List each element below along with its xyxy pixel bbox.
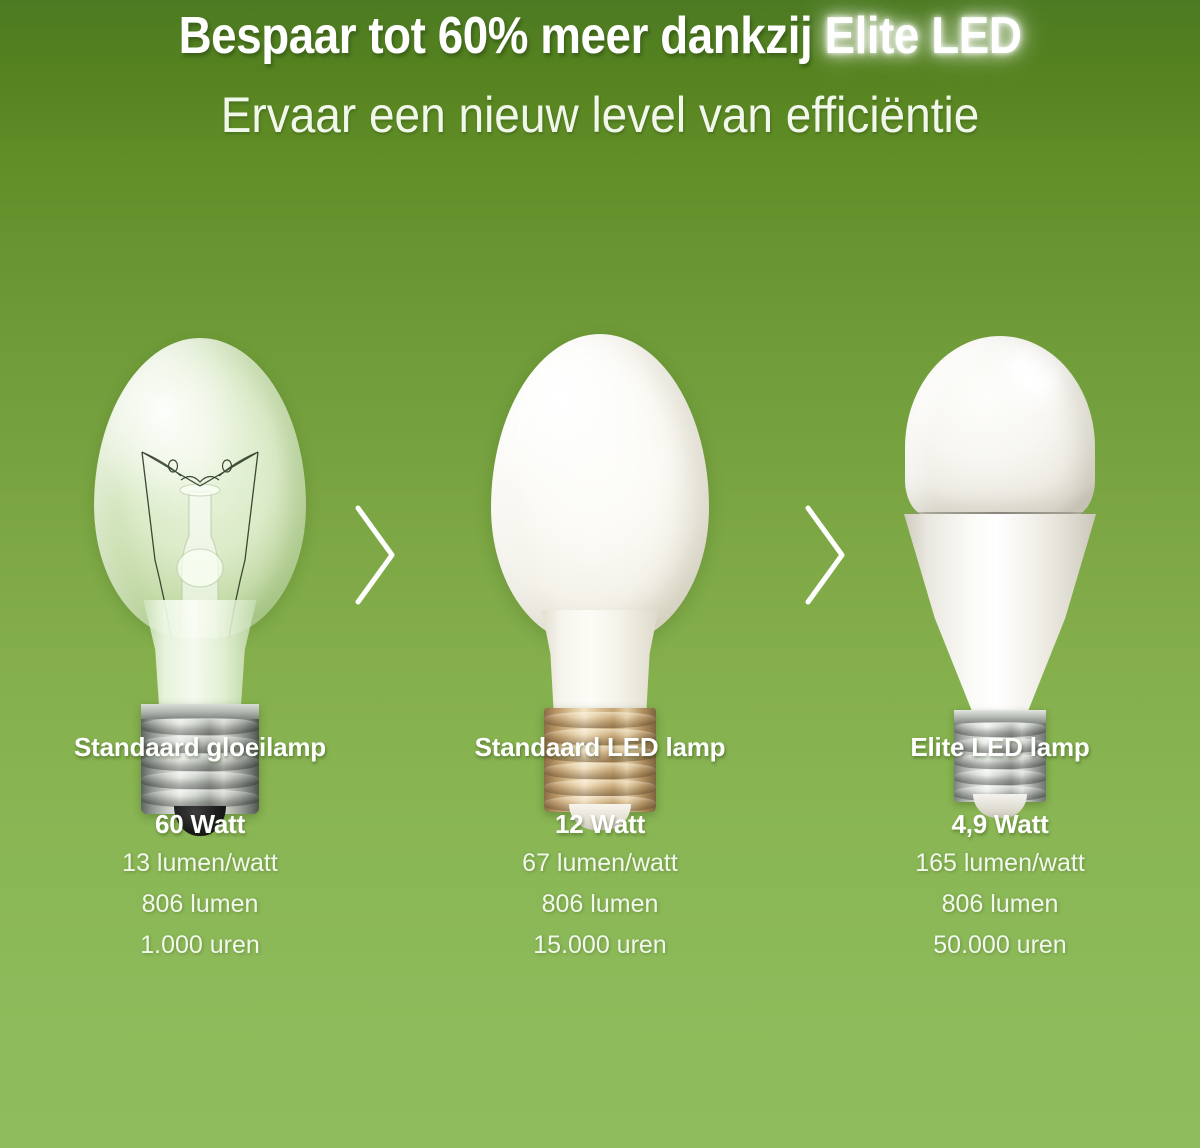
spec-wattage: 4,9 Watt	[800, 805, 1200, 843]
spec-efficacy: 67 lumen/watt	[400, 843, 800, 884]
elite-led-housing-body	[904, 514, 1096, 714]
product-name: Standaard gloeilamp	[0, 732, 400, 763]
frosted-glass-envelope	[491, 334, 709, 644]
chevron-right-icon	[340, 500, 410, 610]
headline-text: Bespaar tot 60% meer dankzij	[179, 7, 825, 65]
product-column-standard-led: Standaard LED lamp 12 Watt 67 lumen/watt…	[400, 300, 800, 1000]
spec-lifetime: 1.000 uren	[0, 925, 400, 966]
base-collar	[141, 704, 259, 719]
base-thread-ring	[544, 712, 656, 728]
spec-lumen: 806 lumen	[800, 884, 1200, 925]
base-thread-ring	[544, 763, 656, 779]
product-name: Elite LED lamp	[800, 732, 1200, 763]
product-column-incandescent: Standaard gloeilamp 60 Watt 13 lumen/wat…	[0, 300, 400, 1000]
spec-efficacy: 165 lumen/watt	[800, 843, 1200, 884]
bulb-illustration-elite-led	[800, 300, 1200, 730]
frosted-bulb-neck	[538, 610, 662, 720]
product-specs: 60 Watt 13 lumen/watt 806 lumen 1.000 ur…	[0, 805, 400, 966]
base-thread-ring	[141, 772, 259, 789]
bulb-illustration-standard-led	[400, 300, 800, 730]
spec-lifetime: 15.000 uren	[400, 925, 800, 966]
product-name: Standaard LED lamp	[400, 732, 800, 763]
headline-brand-highlight: Elite LED	[825, 7, 1022, 65]
spec-lumen: 806 lumen	[0, 884, 400, 925]
promo-banner: Bespaar tot 60% meer dankzij Elite LED E…	[0, 0, 1200, 1148]
spec-wattage: 12 Watt	[400, 805, 800, 843]
incandescent-neck	[141, 600, 259, 718]
spec-wattage: 60 Watt	[0, 805, 400, 843]
spec-lifetime: 50.000 uren	[800, 925, 1200, 966]
elite-led-diffuser-dome	[905, 336, 1095, 516]
page-title: Bespaar tot 60% meer dankzij Elite LED	[72, 6, 1128, 66]
page-subtitle: Ervaar een nieuw level van efficiëntie	[48, 86, 1152, 144]
spec-efficacy: 13 lumen/watt	[0, 843, 400, 884]
base-thread-ring	[954, 770, 1046, 785]
product-specs: 12 Watt 67 lumen/watt 806 lumen 15.000 u…	[400, 805, 800, 966]
product-specs: 4,9 Watt 165 lumen/watt 806 lumen 50.000…	[800, 805, 1200, 966]
chevron-right-icon	[790, 500, 860, 610]
spec-lumen: 806 lumen	[400, 884, 800, 925]
base-thread-ring	[544, 780, 656, 796]
product-column-elite-led: Elite LED lamp 4,9 Watt 165 lumen/watt 8…	[800, 300, 1200, 1000]
